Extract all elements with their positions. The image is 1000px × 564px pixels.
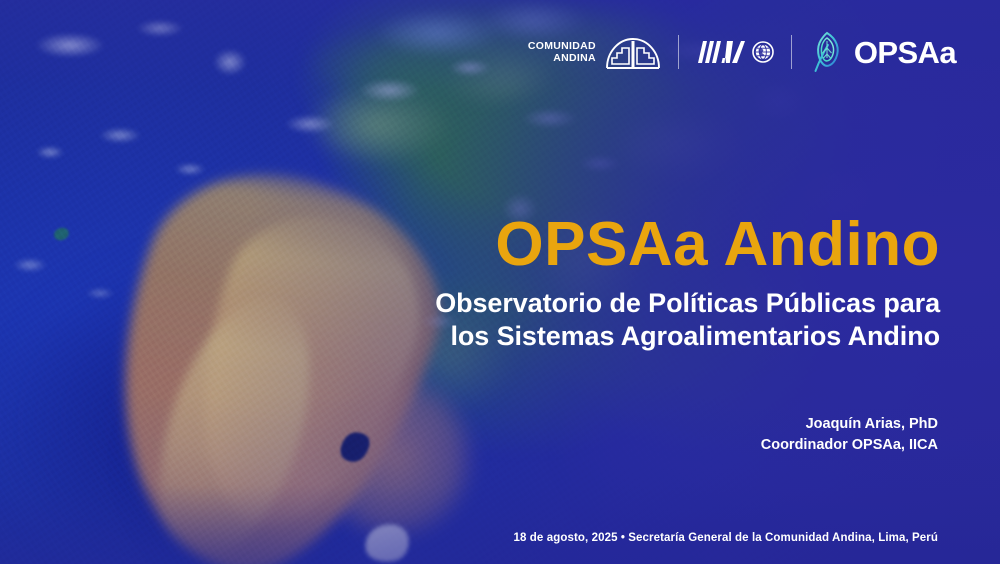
comunidad-andina-line2: ANDINA <box>528 52 596 64</box>
iica-wordmark <box>696 37 748 67</box>
logo-comunidad-andina: COMUNIDAD ANDINA <box>528 36 661 69</box>
page-subtitle-line2: los Sistemas Agroalimentarios Andino <box>320 320 940 353</box>
page-subtitle: Observatorio de Políticas Públicas para … <box>320 287 940 353</box>
title-block: OPSAa Andino Observatorio de Políticas P… <box>320 214 940 353</box>
logo-divider-2 <box>791 35 792 69</box>
comunidad-andina-line1: COMUNIDAD <box>528 40 596 52</box>
logo-iica <box>696 37 774 67</box>
page-subtitle-line1: Observatorio de Políticas Públicas para <box>320 287 940 320</box>
author-role: Coordinador OPSAa, IICA <box>761 435 938 456</box>
presentation-title-slide: COMUNIDAD ANDINA <box>0 0 1000 564</box>
page-title: OPSAa Andino <box>320 214 940 276</box>
leaf-icon <box>809 31 845 73</box>
opsaa-wordmark: OPSAa <box>854 37 956 68</box>
slide-footer: 18 de agosto, 2025 • Secretaría General … <box>514 532 939 544</box>
logo-divider-1 <box>678 35 679 69</box>
author-name: Joaquín Arias, PhD <box>761 414 938 435</box>
andean-arch-icon <box>605 36 661 69</box>
logo-bar: COMUNIDAD ANDINA <box>528 31 956 73</box>
logo-opsaa: OPSAa <box>809 31 956 73</box>
comunidad-andina-wordmark: COMUNIDAD ANDINA <box>528 40 596 64</box>
author-block: Joaquín Arias, PhD Coordinador OPSAa, II… <box>761 414 938 456</box>
globe-icon <box>752 41 774 63</box>
